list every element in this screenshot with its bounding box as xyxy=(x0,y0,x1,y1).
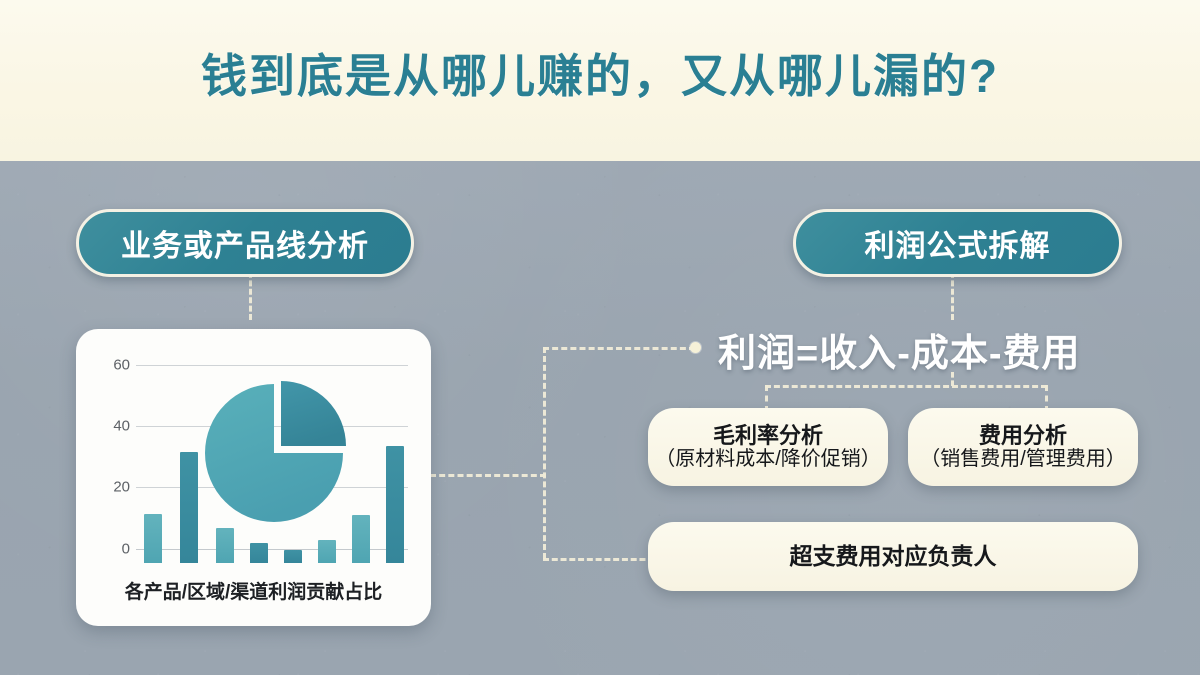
bar-2 xyxy=(180,452,198,563)
y-axis-tick-20: 20 xyxy=(98,479,130,496)
header-band: 钱到底是从哪儿赚的，又从哪儿漏的? xyxy=(0,0,1200,161)
bar-5 xyxy=(284,550,302,563)
connector-spine xyxy=(543,347,546,559)
bar-7 xyxy=(352,515,370,563)
card-gross-margin-title: 毛利率分析 xyxy=(713,423,823,448)
chart-plot-area: 60 40 20 0 xyxy=(98,351,412,563)
card-expense-analysis-subtitle: （销售费用/管理费用） xyxy=(920,448,1126,472)
bar-8 xyxy=(386,446,404,563)
pie-overlay xyxy=(200,377,352,529)
section-pill-profit-formula[interactable]: 利润公式拆解 xyxy=(793,209,1122,277)
profit-formula-text: 利润=收入-成本-费用 xyxy=(718,322,1081,377)
y-axis-tick-40: 40 xyxy=(98,418,130,435)
bar-4 xyxy=(250,543,268,563)
pie-slice-minor xyxy=(281,381,346,446)
connector-pill-to-formula xyxy=(951,272,954,320)
connector-spine-to-formula xyxy=(543,347,695,350)
card-overspend-owner[interactable]: 超支费用对应负责人 xyxy=(648,522,1138,591)
card-gross-margin-subtitle: （原材料成本/降价促销） xyxy=(655,448,881,472)
section-pill-business-line-label: 业务或产品线分析 xyxy=(121,221,369,265)
connector-dot-icon xyxy=(690,342,701,353)
card-expense-analysis-title: 费用分析 xyxy=(979,423,1067,448)
connector-bracket-top xyxy=(765,385,1047,388)
section-pill-profit-formula-label: 利润公式拆解 xyxy=(865,221,1051,265)
connector-chart-to-spine xyxy=(430,474,546,477)
bar-1 xyxy=(144,514,162,564)
bar-6 xyxy=(318,540,336,563)
card-expense-analysis[interactable]: 费用分析 （销售费用/管理费用） xyxy=(908,408,1138,486)
pie-chart-svg xyxy=(200,377,352,529)
connector-spine-to-owner-card xyxy=(543,558,663,561)
page-title: 钱到底是从哪儿赚的，又从哪儿漏的? xyxy=(0,40,1200,106)
connector-pill-to-chart xyxy=(249,272,252,320)
card-gross-margin[interactable]: 毛利率分析 （原材料成本/降价促销） xyxy=(648,408,888,486)
card-overspend-owner-title: 超支费用对应负责人 xyxy=(790,543,997,569)
chart-caption: 各产品/区域/渠道利润贡献占比 xyxy=(76,577,431,604)
bar-3 xyxy=(216,528,234,563)
slide-root: 钱到底是从哪儿赚的，又从哪儿漏的? 业务或产品线分析 利润公式拆解 60 40 … xyxy=(0,0,1200,675)
y-axis-tick-0: 0 xyxy=(98,541,130,558)
section-pill-business-line[interactable]: 业务或产品线分析 xyxy=(76,209,414,277)
y-axis-tick-60: 60 xyxy=(98,357,130,374)
chart-card[interactable]: 60 40 20 0 xyxy=(76,329,431,626)
